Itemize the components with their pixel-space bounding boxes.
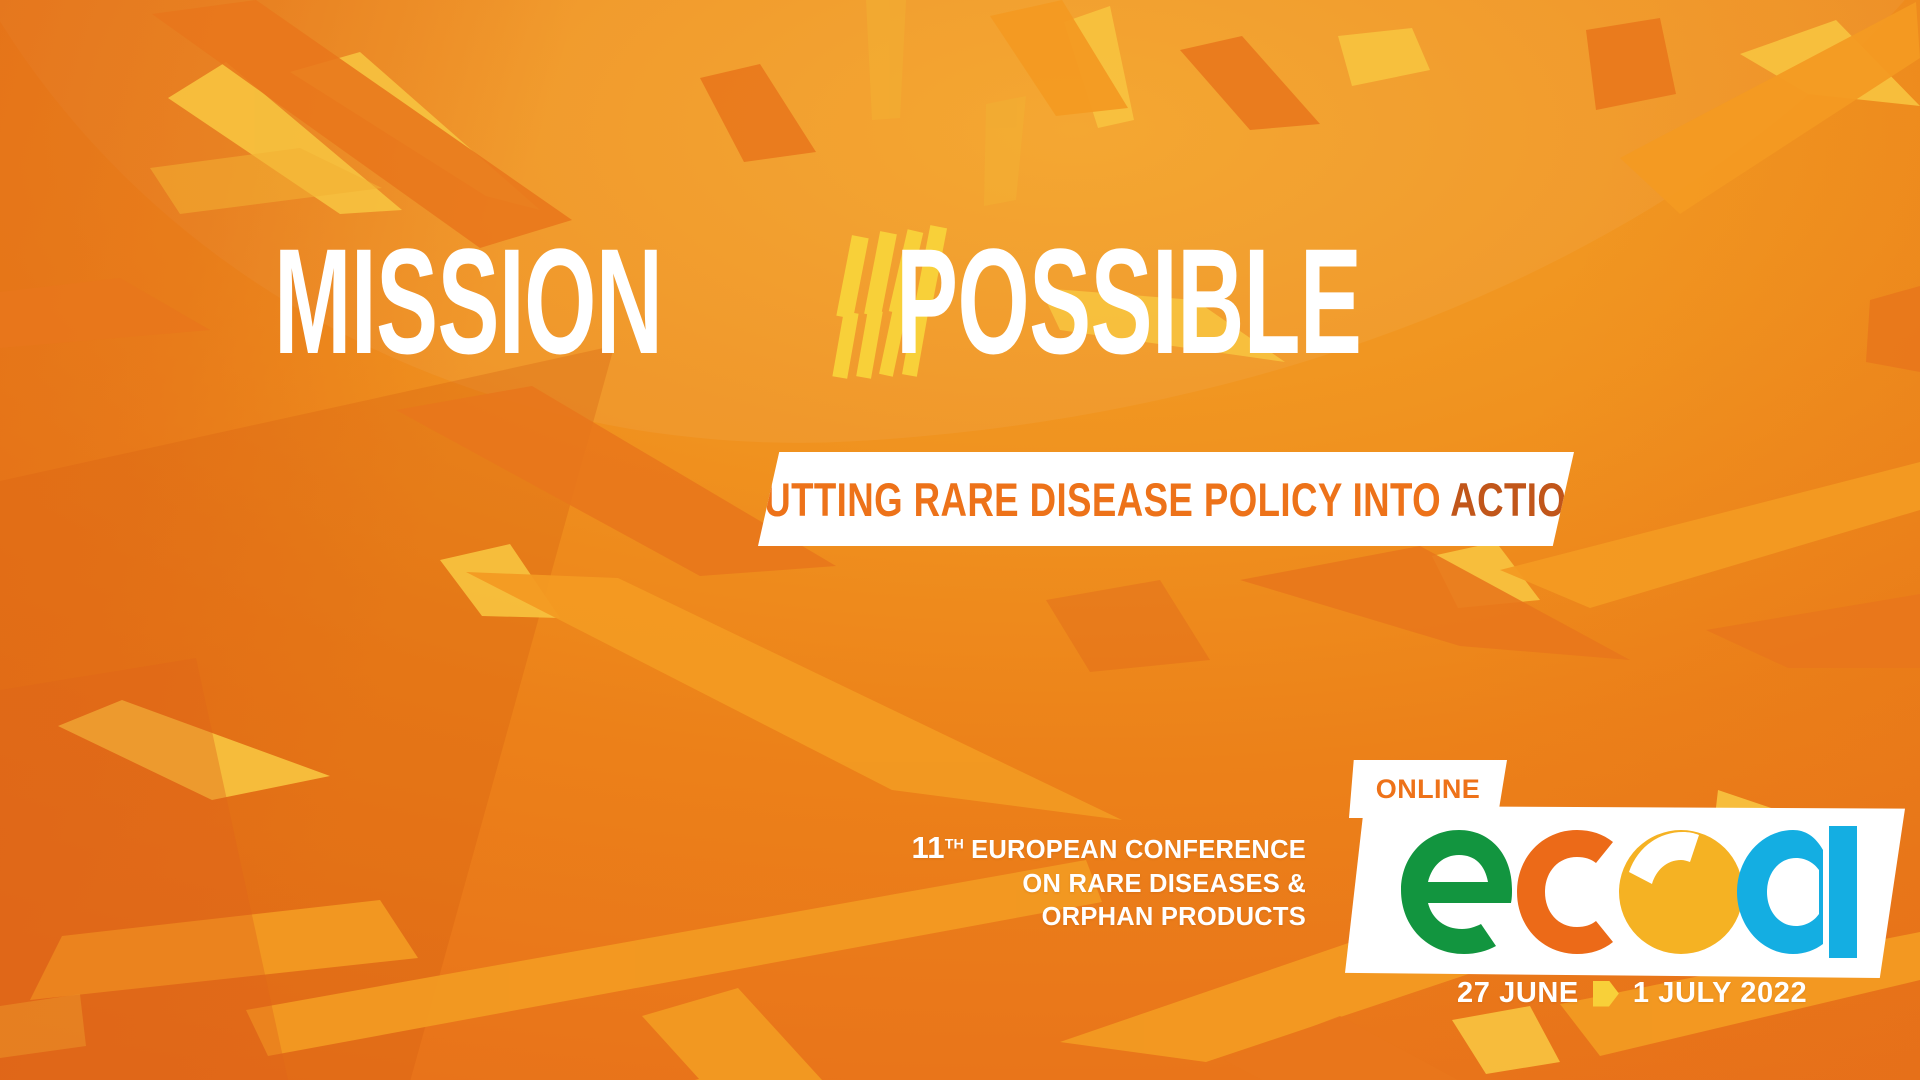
logo-letter-r-icon [1615, 826, 1745, 958]
logo-letter-d-icon [1733, 826, 1867, 958]
conference-line-1: 11TH EUROPEAN CONFERENCE [911, 828, 1306, 868]
date-end: 1 JULY 2022 [1633, 977, 1807, 1010]
title-word-mission: MISSION [274, 232, 662, 370]
conference-line-3: ORPHAN PRODUCTS [911, 901, 1306, 934]
conference-edition-ordinal: TH [945, 837, 964, 853]
online-badge-label: ONLINE [1376, 774, 1480, 805]
subtitle-main: PUTTING RARE DISEASE POLICY INTO [739, 473, 1450, 526]
logo-letter-c-icon [1507, 826, 1631, 958]
title-word-possible: POSSIBLE [896, 232, 1361, 370]
main-title: MISSION POSSIBLE [0, 232, 1920, 382]
event-dates: 27 JUNE 1 JULY 2022 [1457, 977, 1807, 1010]
ecrd-logo-panel [1345, 806, 1905, 978]
ecrd-logo-letters [1397, 826, 1867, 958]
date-start: 27 JUNE [1457, 977, 1579, 1010]
logo-letter-e-icon [1397, 826, 1521, 958]
conference-title: 11TH EUROPEAN CONFERENCE ON RARE DISEASE… [911, 828, 1306, 935]
conference-edition-number: 11 [911, 830, 944, 865]
subtitle-text: PUTTING RARE DISEASE POLICY INTO ACTION [739, 472, 1593, 527]
conference-line-2: ON RARE DISEASES & [911, 868, 1306, 901]
arrow-right-icon [1593, 981, 1619, 1007]
conference-line-1-text: EUROPEAN CONFERENCE [964, 836, 1306, 864]
poster-canvas: MISSION POSSIBLE PUTTING RARE DISEASE PO… [0, 0, 1920, 1080]
subtitle-banner: PUTTING RARE DISEASE POLICY INTO ACTION [758, 452, 1574, 546]
